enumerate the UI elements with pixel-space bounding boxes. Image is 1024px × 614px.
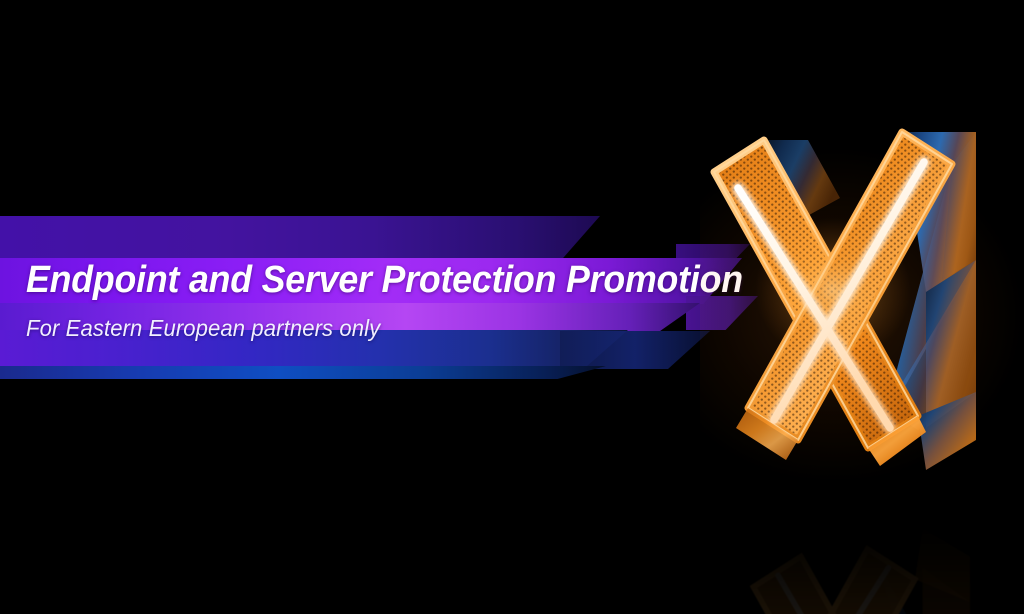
- x-letter-neon-logo: [690, 110, 1024, 614]
- banner-copy: Endpoint and Server Protection Promotion…: [26, 258, 726, 342]
- promotional-banner: Endpoint and Server Protection Promotion…: [0, 0, 1024, 614]
- page-title: Endpoint and Server Protection Promotion: [26, 258, 684, 302]
- page-subtitle: For Eastern European partners only: [26, 314, 698, 342]
- band-top: [0, 216, 600, 259]
- band-footer: [0, 366, 606, 379]
- x-letter-svg: [690, 110, 1024, 510]
